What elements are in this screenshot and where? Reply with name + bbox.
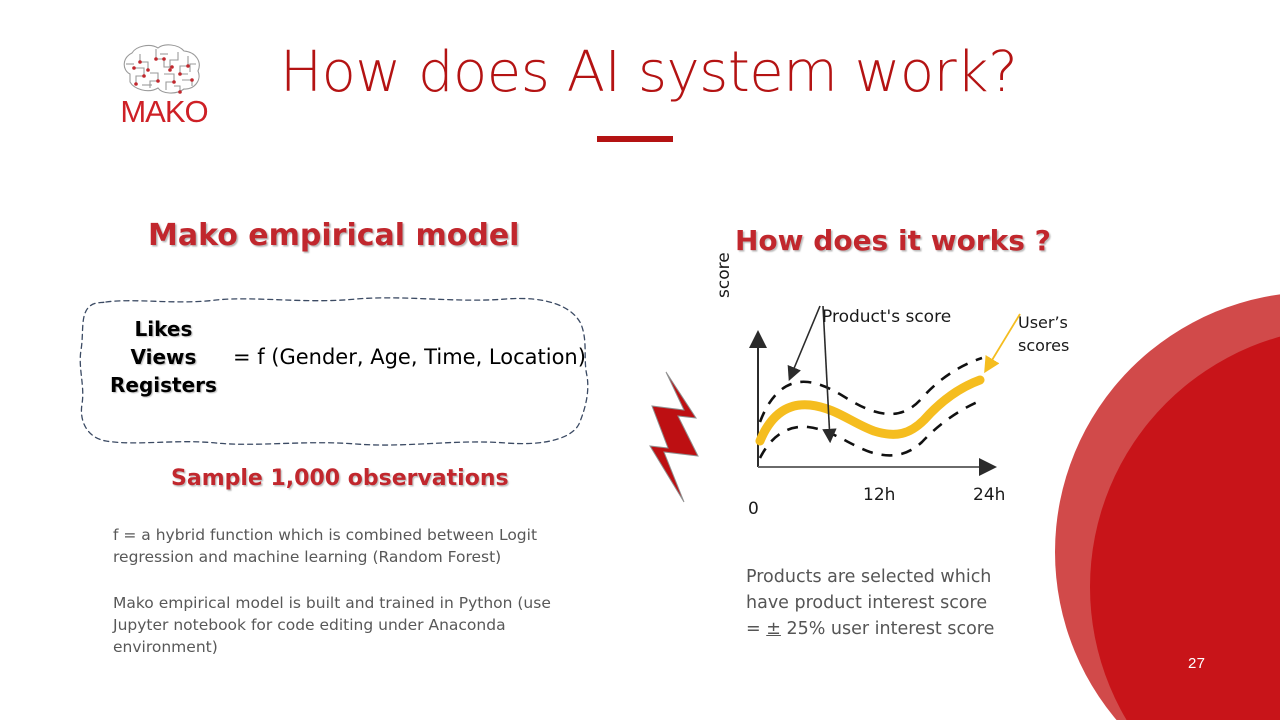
right-section-heading: How does it works ? (735, 224, 1051, 257)
plus-minus-symbol: ± (766, 619, 781, 639)
page-number: 27 (1188, 655, 1205, 672)
upper-band-curve (760, 358, 982, 422)
sample-size-label: Sample 1,000 observations (171, 466, 509, 491)
slide-canvas: 27 (0, 0, 1280, 720)
x-tick-24h: 24h (973, 485, 1005, 505)
right-note-line-3: = ± 25% user interest score (746, 616, 994, 642)
formula-input-registers: Registers (110, 371, 217, 399)
formula-inputs: Likes Views Registers (110, 315, 217, 399)
brain-circuit-icon (112, 40, 216, 100)
note-python-training: Mako empirical model is built and traine… (113, 592, 583, 658)
mako-logo: MAKO (112, 40, 216, 128)
right-note-line-2: have product interest score (746, 590, 994, 616)
formula-input-views: Views (131, 343, 197, 371)
left-section-heading: Mako empirical model (148, 218, 519, 253)
user-score-leader (986, 314, 1020, 370)
x-tick-12h: 12h (863, 485, 895, 505)
page-title: How does AI system work? (280, 40, 1000, 105)
annotation-product-score: Product's score (822, 307, 951, 327)
user-score-curve (760, 380, 980, 441)
right-note-prefix: = (746, 619, 766, 639)
formula-equation: = f (Gender, Age, Time, Location) (233, 345, 586, 369)
annotation-user-scores-line2: scores (1018, 334, 1069, 357)
formula: Likes Views Registers = f (Gender, Age, … (110, 315, 580, 399)
red-arrow-icon (640, 368, 712, 506)
annotation-user-scores: User’s scores (1018, 311, 1069, 357)
title-underline (597, 136, 673, 142)
score-chart (720, 262, 1080, 532)
note-hybrid-function: f = a hybrid function which is combined … (113, 524, 583, 568)
formula-input-likes: Likes (135, 315, 193, 343)
logo-wordmark: MAKO (112, 96, 216, 127)
product-score-leader-upper (790, 306, 820, 378)
annotation-user-scores-line1: User’s (1018, 311, 1069, 334)
right-section-note: Products are selected which have product… (746, 564, 994, 642)
x-tick-0: 0 (748, 499, 759, 519)
right-note-suffix: 25% user interest score (781, 619, 994, 639)
right-note-line-1: Products are selected which (746, 564, 994, 590)
